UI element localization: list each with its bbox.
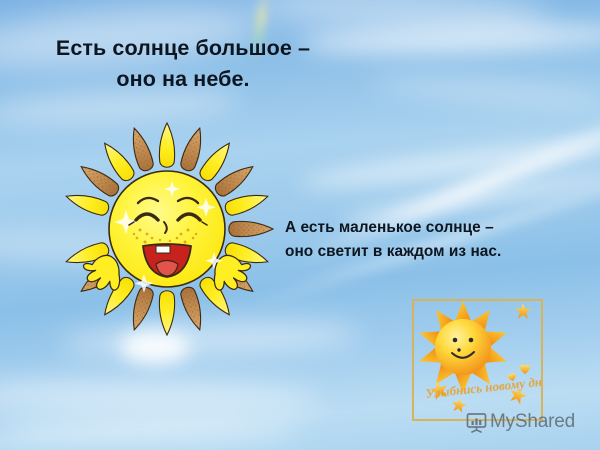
- headline-text: Есть солнце большое – оно на небе.: [18, 33, 348, 95]
- body-text-line-2: оно светит в каждом из нас.: [285, 240, 590, 264]
- smiling-sun-icon: [48, 122, 286, 336]
- body-text-line-1: А есть маленькое солнце –: [285, 216, 590, 240]
- small-sun-card: Улыбнись новому дню!: [412, 299, 543, 421]
- headline-line-2: оно на небе.: [18, 64, 348, 95]
- myshared-watermark: MyShared: [466, 411, 575, 433]
- presentation-chart-icon: [466, 412, 487, 433]
- myshared-label: MyShared: [490, 411, 575, 433]
- body-text: А есть маленькое солнце – оно светит в к…: [285, 216, 590, 264]
- headline-line-1: Есть солнце большое –: [18, 33, 348, 64]
- slide-canvas: Есть солнце большое – оно на небе. А ест…: [0, 0, 600, 450]
- card-frame: [412, 299, 543, 421]
